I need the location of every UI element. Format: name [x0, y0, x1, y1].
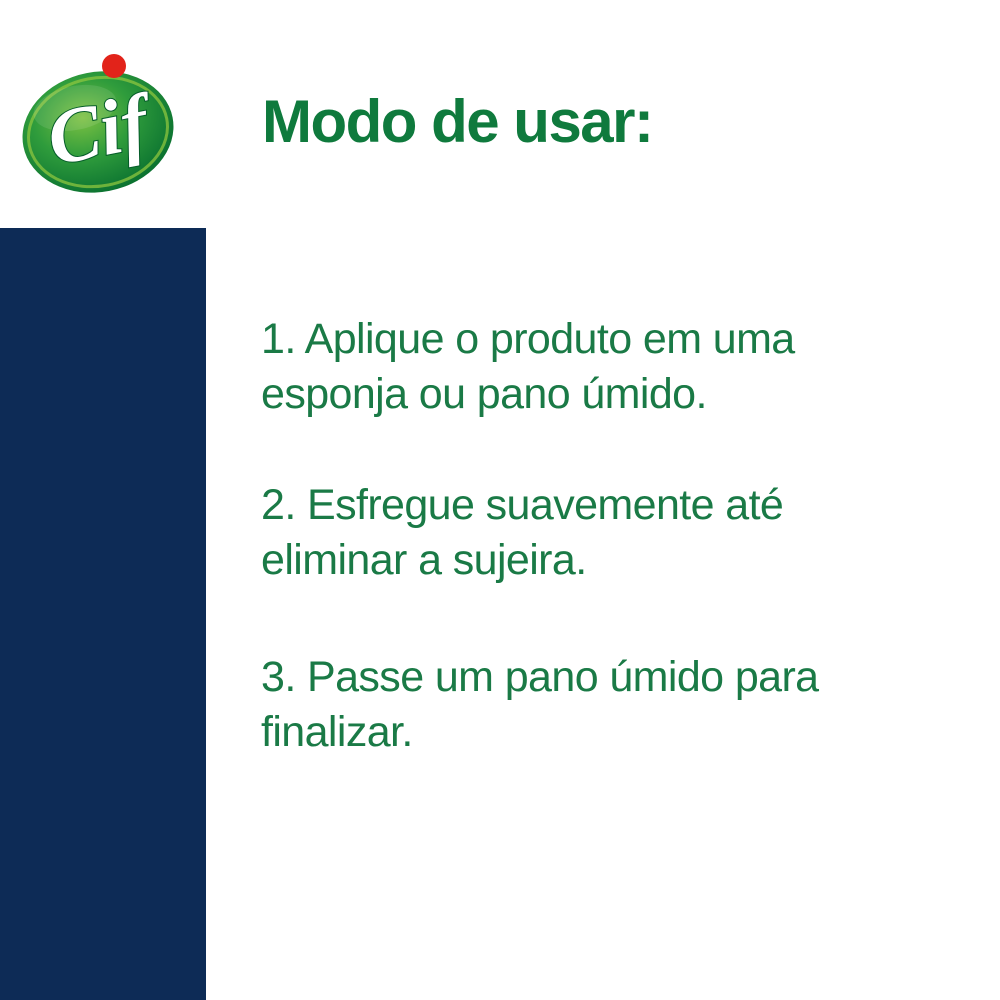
cif-logo-icon: Cif	[18, 26, 178, 194]
steps-list: 1. Aplique o produto em uma esponja ou p…	[261, 312, 901, 760]
step-item-1: 1. Aplique o produto em uma esponja ou p…	[261, 312, 901, 422]
cif-logo-red-dot	[102, 54, 126, 78]
instructions-page: Cif Modo de usar: 1. Aplique o produto e…	[0, 0, 1000, 1000]
step-item-3: 3. Passe um pano úmido para finalizar.	[261, 650, 901, 760]
cif-logo: Cif	[18, 26, 178, 194]
navy-side-bar	[0, 228, 206, 1000]
step-item-2: 2. Esfregue suavemente até eliminar a su…	[261, 478, 901, 588]
page-title: Modo de usar:	[262, 92, 653, 152]
